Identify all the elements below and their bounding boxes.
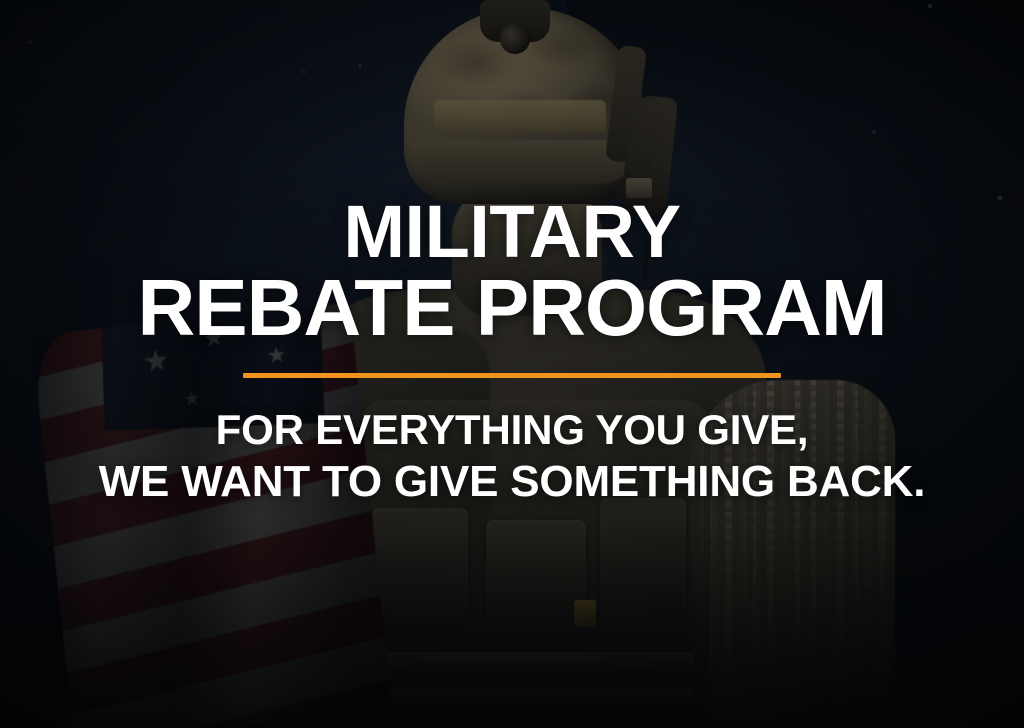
headline-line-1: MILITARY: [138, 196, 887, 269]
headline-line-2: REBATE PROGRAM: [138, 269, 887, 347]
subheadline-line-2: WE WANT TO GIVE SOMETHING BACK.: [99, 455, 926, 509]
accent-divider: [243, 373, 781, 378]
military-rebate-banner: ★ ★ ★ ★ MILITARY REBATE PROGRAM FOR EVER…: [0, 0, 1024, 728]
subheadline-line-1: FOR EVERYTHING YOU GIVE,: [99, 404, 926, 455]
page-title: MILITARY REBATE PROGRAM: [138, 196, 887, 347]
banner-content: MILITARY REBATE PROGRAM FOR EVERYTHING Y…: [0, 0, 1024, 728]
subheadline: FOR EVERYTHING YOU GIVE, WE WANT TO GIVE…: [99, 404, 926, 509]
